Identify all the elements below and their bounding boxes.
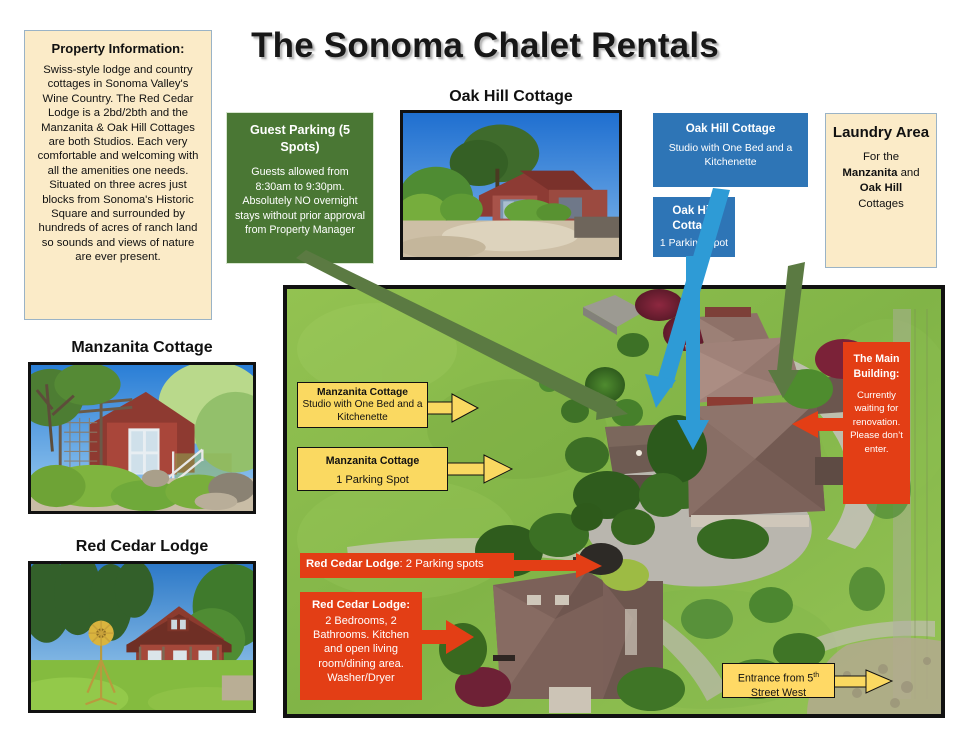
entrance-line2: Street West (751, 687, 806, 699)
manzanita-parking-body: 1 Parking Spot (302, 474, 443, 487)
oak-hill-cottage-heading: Oak Hill Cottage (661, 122, 800, 135)
guest-parking-heading: Guest Parking (5 Spots) (234, 122, 366, 156)
entrance-callout: Entrance from 5th Street West (722, 663, 835, 698)
oak-hill-photo-art (403, 113, 619, 257)
laundry-line1: For the (863, 151, 899, 163)
red-cedar-info-body: 2 Bedrooms, 2 Bathrooms. Kitchen and ope… (305, 614, 417, 685)
main-building-body: Currently waiting for renovation. Please… (847, 389, 906, 456)
main-building-callout: The Main Building: Currently waiting for… (843, 342, 910, 504)
property-information-panel: Property Information: Swiss-style lodge … (24, 30, 212, 320)
oak-hill-cottage-photo (400, 110, 622, 260)
laundry-oak-hill: Oak Hill (860, 182, 902, 194)
oak-hill-cottage-body: Studio with One Bed and a Kitchenette (661, 142, 800, 169)
manzanita-cottage-photo (28, 362, 256, 514)
laundry-heading: Laundry Area (832, 123, 930, 143)
property-information-heading: Property Information: (34, 41, 202, 56)
oak-hill-cottage-callout: Oak Hill Cottage Studio with One Bed and… (653, 113, 808, 187)
red-cedar-info-callout: Red Cedar Lodge: 2 Bedrooms, 2 Bathrooms… (300, 592, 422, 700)
main-building-heading: The Main Building: (847, 352, 906, 381)
red-cedar-parking-line: Red Cedar Lodge: 2 Parking spots (306, 558, 508, 570)
entrance-line1: Entrance from 5 (738, 673, 813, 685)
red-cedar-info-heading: Red Cedar Lodge: (305, 599, 417, 611)
manzanita-parking-heading: Manzanita Cottage (302, 455, 443, 467)
poster-canvas: The Sonoma Chalet Rentals Property Infor… (0, 0, 960, 742)
red-cedar-parking-heading: Red Cedar Lodge (306, 558, 400, 570)
red-cedar-photo-caption: Red Cedar Lodge (28, 538, 256, 556)
laundry-body: For the Manzanita and Oak Hill Cottages (832, 150, 930, 212)
laundry-and: and (897, 167, 919, 179)
manzanita-photo-caption: Manzanita Cottage (28, 339, 256, 357)
manzanita-cottage-callout: Manzanita Cottage Studio with One Bed an… (297, 382, 428, 428)
laundry-area-callout: Laundry Area For the Manzanita and Oak H… (825, 113, 937, 268)
oak-hill-parking-heading: Oak Hill Cottage (658, 204, 730, 233)
manzanita-parking-callout: Manzanita Cottage 1 Parking Spot (297, 447, 448, 491)
oak-hill-photo-caption: Oak Hill Cottage (400, 88, 622, 106)
laundry-manzanita: Manzanita (842, 167, 897, 179)
guest-parking-body: Guests allowed from 8:30am to 9:30pm. Ab… (234, 165, 366, 238)
manzanita-cottage-heading: Manzanita Cottage (302, 387, 423, 398)
manzanita-photo-art (31, 365, 253, 511)
entrance-text: Entrance from 5th Street West (727, 669, 830, 700)
oak-hill-parking-body: 1 Parking Spot (658, 237, 730, 251)
red-cedar-parking-callout: Red Cedar Lodge: 2 Parking spots (300, 553, 514, 578)
red-cedar-parking-body: : 2 Parking spots (400, 558, 484, 570)
property-information-body: Swiss-style lodge and country cottages i… (34, 63, 202, 265)
page-title: The Sonoma Chalet Rentals (225, 26, 745, 66)
manzanita-cottage-body: Studio with One Bed and a Kitchenette (302, 398, 423, 424)
entrance-ordinal-suffix: th (813, 672, 819, 679)
red-cedar-photo-art (31, 564, 253, 710)
red-cedar-lodge-photo (28, 561, 256, 713)
laundry-cottages: Cottages (858, 198, 904, 210)
oak-hill-parking-callout: Oak Hill Cottage 1 Parking Spot (653, 197, 735, 257)
guest-parking-callout: Guest Parking (5 Spots) Guests allowed f… (226, 112, 374, 264)
